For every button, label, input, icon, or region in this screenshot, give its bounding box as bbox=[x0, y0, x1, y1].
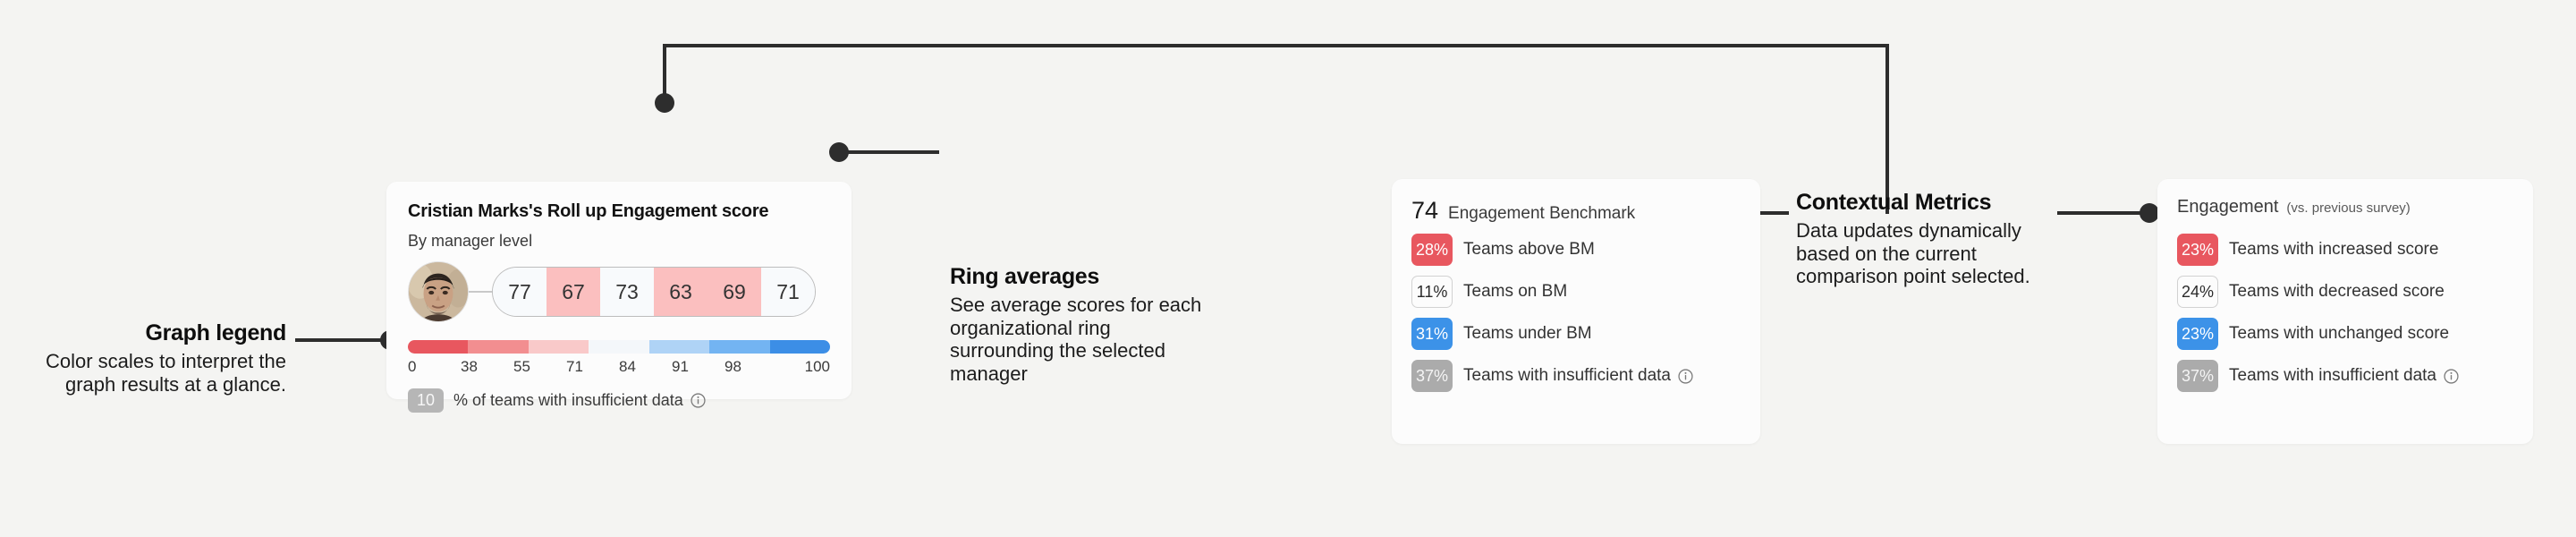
connector-graph-legend bbox=[295, 338, 392, 342]
color-scale-segment-3 bbox=[589, 340, 648, 354]
annotation-graph-legend: Graph legend Color scales to interpret t… bbox=[27, 320, 286, 396]
avatar-connector-stem bbox=[469, 291, 492, 293]
color-scale-tick-6: 98 bbox=[724, 358, 777, 376]
info-circle-icon[interactable] bbox=[1678, 369, 1693, 384]
annotation-ring-averages-title: Ring averages bbox=[950, 264, 1209, 290]
connector-dot-ring-averages bbox=[829, 142, 849, 162]
engagement-label-3: Teams with insufficient data bbox=[2229, 366, 2436, 386]
info-circle-glyph bbox=[2444, 369, 2459, 384]
ring-score-cell-4[interactable]: 69 bbox=[708, 268, 761, 316]
benchmark-label-3: Teams with insufficient data bbox=[1463, 366, 1671, 386]
ring-score-cell-0[interactable]: 77 bbox=[493, 268, 547, 316]
info-circle-icon[interactable] bbox=[2444, 369, 2459, 384]
annotation-contextual-metrics: Contextual Metrics Data updates dynamica… bbox=[1796, 190, 2064, 288]
color-scale-segment-6 bbox=[770, 340, 830, 354]
connector-engagement bbox=[2057, 211, 2147, 215]
engagement-header-label: Engagement bbox=[2177, 197, 2278, 217]
engagement-card-header: Engagement (vs. previous survey) bbox=[2177, 197, 2513, 224]
color-scale-bar bbox=[408, 340, 830, 354]
benchmark-label-1: Teams on BM bbox=[1463, 282, 1567, 302]
benchmark-badge-0: 28% bbox=[1411, 234, 1453, 266]
ring-score-cell-1[interactable]: 67 bbox=[547, 268, 600, 316]
avatar-portrait-icon bbox=[409, 262, 468, 321]
ring-score-cell-5[interactable]: 71 bbox=[761, 268, 815, 316]
annotation-contextual-metrics-title: Contextual Metrics bbox=[1796, 190, 2064, 216]
benchmark-header-label: Engagement Benchmark bbox=[1448, 204, 1635, 224]
benchmark-badge-2: 31% bbox=[1411, 318, 1453, 350]
color-scale-tick-5: 91 bbox=[672, 358, 724, 376]
benchmark-badge-1: 11% bbox=[1411, 276, 1453, 308]
info-circle-icon[interactable] bbox=[691, 393, 706, 408]
benchmark-score: 74 bbox=[1411, 197, 1438, 225]
engagement-badge-2: 23% bbox=[2177, 318, 2218, 350]
benchmark-row[interactable]: 31%Teams under BM bbox=[1411, 318, 1741, 350]
engagement-row[interactable]: 23%Teams with increased score bbox=[2177, 234, 2513, 266]
benchmark-badge-3: 37% bbox=[1411, 360, 1453, 392]
color-scale-segment-5 bbox=[709, 340, 769, 354]
benchmark-row[interactable]: 11%Teams on BM bbox=[1411, 276, 1741, 308]
engagement-benchmark-card: 74 Engagement Benchmark 28%Teams above B… bbox=[1392, 179, 1760, 444]
color-scale-tick-3: 71 bbox=[566, 358, 619, 376]
info-circle-glyph bbox=[691, 393, 706, 408]
insufficient-data-value: 10 bbox=[408, 388, 444, 413]
ring-score-cell-3[interactable]: 63 bbox=[654, 268, 708, 316]
engagement-badge-1: 24% bbox=[2177, 276, 2218, 308]
engagement-comparison-card: Engagement (vs. previous survey) 23%Team… bbox=[2157, 179, 2533, 444]
connector-dot-rollup-top bbox=[655, 93, 674, 113]
engagement-row[interactable]: 23%Teams with unchanged score bbox=[2177, 318, 2513, 350]
connector-dot-engagement bbox=[2140, 203, 2159, 223]
insufficient-data-row: 10 % of teams with insufficient data bbox=[408, 388, 830, 413]
rollup-card-title: Cristian Marks's Roll up Engagement scor… bbox=[408, 201, 830, 222]
connector-top-horizontal bbox=[663, 44, 1889, 47]
rollup-engagement-card: Cristian Marks's Roll up Engagement scor… bbox=[386, 182, 852, 399]
benchmark-row[interactable]: 37%Teams with insufficient data bbox=[1411, 360, 1741, 392]
engagement-label-1: Teams with decreased score bbox=[2229, 282, 2445, 302]
color-scale-tick-4: 84 bbox=[619, 358, 672, 376]
graph-legend-scale: 0385571849198100 bbox=[408, 340, 830, 376]
benchmark-row[interactable]: 28%Teams above BM bbox=[1411, 234, 1741, 266]
color-scale-ticks: 0385571849198100 bbox=[408, 358, 830, 376]
engagement-badge-3: 37% bbox=[2177, 360, 2218, 392]
color-scale-tick-7: 100 bbox=[777, 358, 830, 376]
benchmark-label-0: Teams above BM bbox=[1463, 240, 1595, 260]
annotation-graph-legend-title: Graph legend bbox=[27, 320, 286, 346]
color-scale-tick-2: 55 bbox=[513, 358, 566, 376]
benchmark-rows: 28%Teams above BM11%Teams on BM31%Teams … bbox=[1411, 234, 1741, 392]
insufficient-data-label: % of teams with insufficient data bbox=[453, 391, 683, 410]
annotation-ring-averages: Ring averages See average scores for eac… bbox=[950, 264, 1209, 386]
annotation-contextual-metrics-body: Data updates dynamically based on the cu… bbox=[1796, 219, 2064, 288]
benchmark-label-2: Teams under BM bbox=[1463, 324, 1592, 344]
ring-score-cell-2[interactable]: 73 bbox=[600, 268, 654, 316]
color-scale-tick-0: 0 bbox=[408, 358, 461, 376]
engagement-row[interactable]: 24%Teams with decreased score bbox=[2177, 276, 2513, 308]
engagement-rows: 23%Teams with increased score24%Teams wi… bbox=[2177, 234, 2513, 392]
connector-top-vertical-right bbox=[1885, 44, 1889, 214]
engagement-badge-0: 23% bbox=[2177, 234, 2218, 266]
color-scale-segment-0 bbox=[408, 340, 468, 354]
color-scale-segment-4 bbox=[649, 340, 709, 354]
engagement-header-note: (vs. previous survey) bbox=[2286, 200, 2410, 216]
benchmark-card-header: 74 Engagement Benchmark bbox=[1411, 197, 1741, 224]
engagement-row[interactable]: 37%Teams with insufficient data bbox=[2177, 360, 2513, 392]
engagement-label-0: Teams with increased score bbox=[2229, 240, 2438, 260]
ring-averages-row: 776773636971 bbox=[408, 261, 830, 322]
annotated-diagram-canvas: Cristian Marks's Roll up Engagement scor… bbox=[0, 0, 2576, 537]
color-scale-segment-2 bbox=[529, 340, 589, 354]
engagement-label-2: Teams with unchanged score bbox=[2229, 324, 2449, 344]
annotation-ring-averages-body: See average scores for each organization… bbox=[950, 294, 1209, 386]
color-scale-segment-1 bbox=[468, 340, 528, 354]
manager-avatar[interactable] bbox=[408, 261, 469, 322]
annotation-graph-legend-body: Color scales to interpret the graph resu… bbox=[27, 350, 286, 396]
color-scale-tick-1: 38 bbox=[461, 358, 513, 376]
connector-ring-averages bbox=[839, 150, 939, 154]
ring-score-track[interactable]: 776773636971 bbox=[492, 267, 816, 317]
info-circle-glyph bbox=[1678, 369, 1693, 384]
rollup-card-subtitle: By manager level bbox=[408, 232, 830, 251]
